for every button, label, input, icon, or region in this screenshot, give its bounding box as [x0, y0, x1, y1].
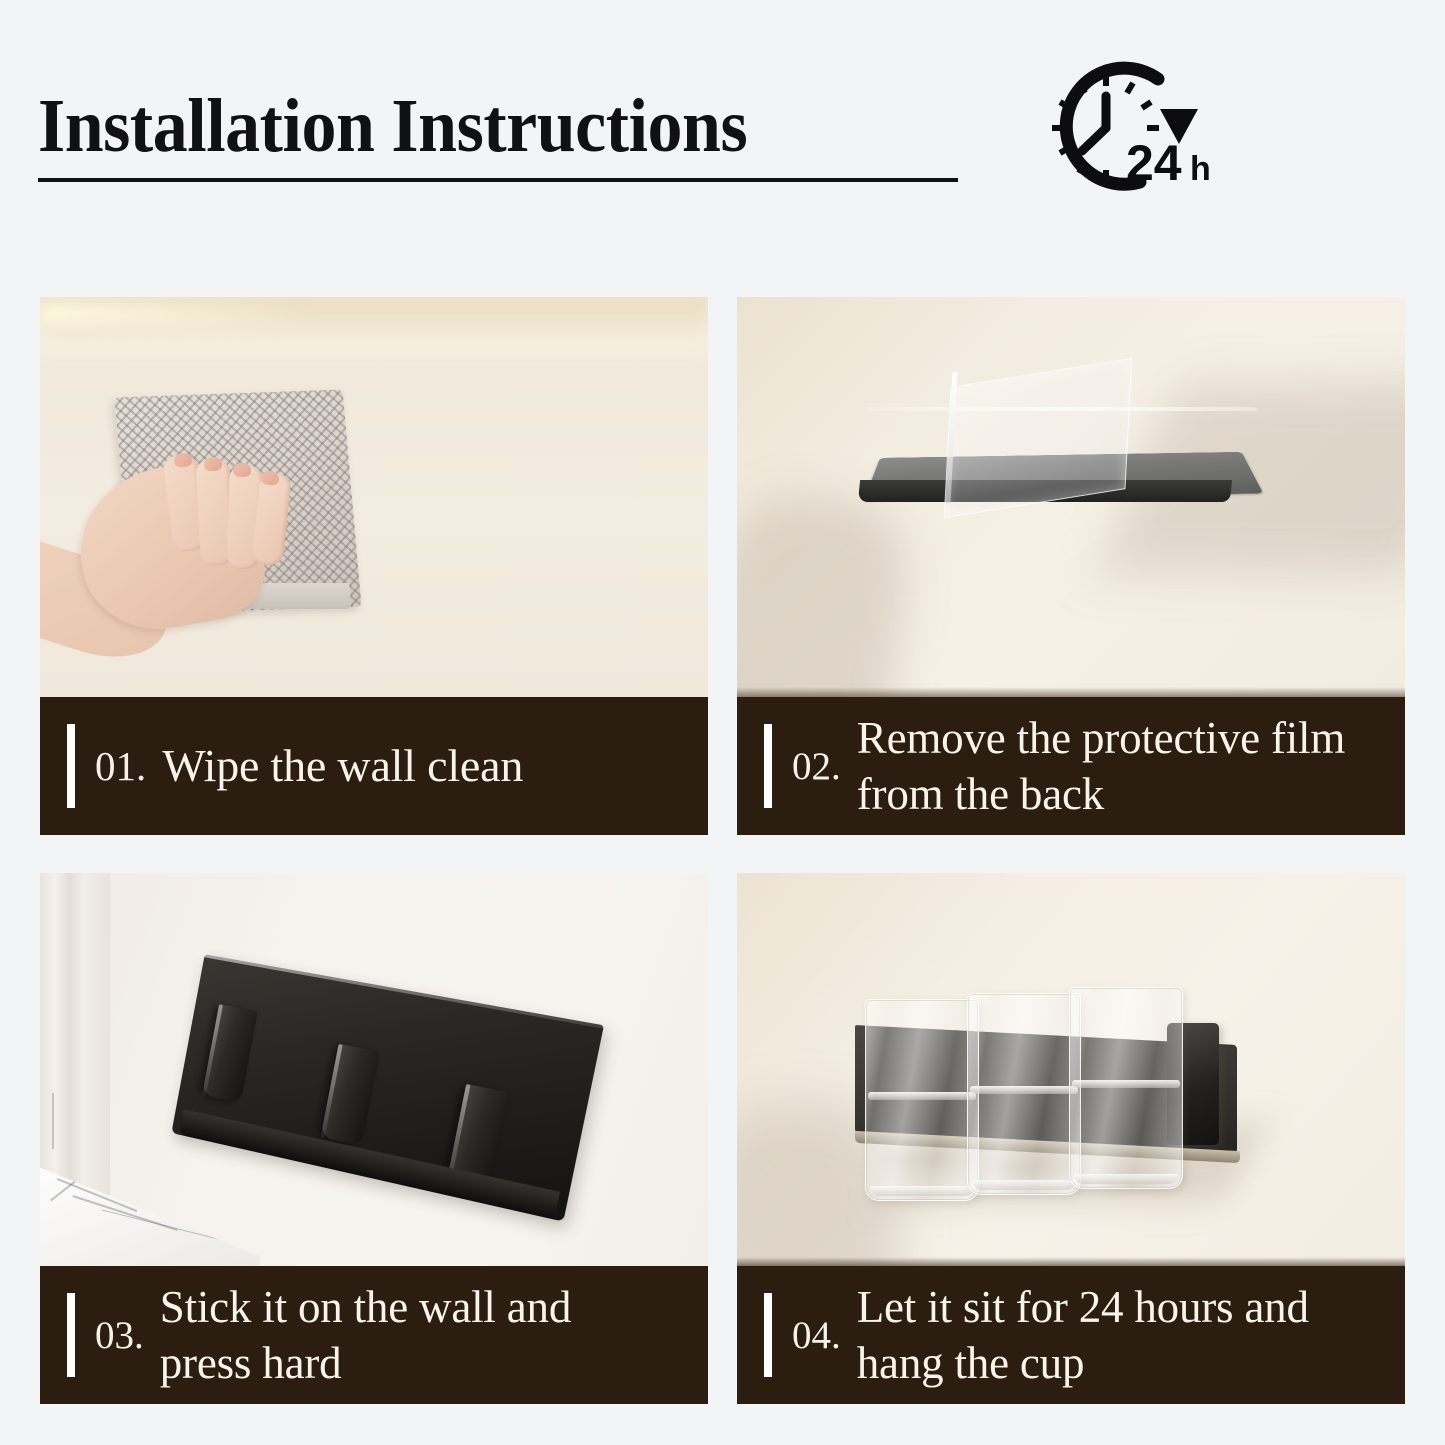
tab-highlight [321, 1044, 343, 1138]
step-caption-02: 02. Remove the protective film from the … [737, 697, 1405, 835]
caption-accent-bar [67, 1293, 75, 1377]
step-text-04: Let it sit for 24 hours and hang the cup [857, 1279, 1309, 1391]
step-text-02-line1: Remove the protective film [857, 710, 1345, 766]
cup-holder-tab [202, 1004, 258, 1103]
step-photo-03 [40, 873, 708, 1266]
step-caption-04: 04. Let it sit for 24 hours and hang the… [737, 1266, 1405, 1404]
step-text-04-line1: Let it sit for 24 hours and [857, 1279, 1309, 1335]
step-card-03: 03. Stick it on the wall and press hard [40, 873, 708, 1404]
step-card-04: 04. Let it sit for 24 hours and hang the… [737, 873, 1405, 1404]
step-text-03: Stick it on the wall and press hard [160, 1279, 571, 1391]
page-title: Installation Instructions [38, 88, 747, 164]
clock-hours-text: 24 [1126, 135, 1182, 191]
ceiling-light-glow [40, 303, 321, 325]
step-photo-02 [737, 297, 1405, 697]
page-header: Installation Instructions [0, 0, 1445, 265]
cup-rim [970, 1086, 1078, 1094]
title-underline-rule [38, 178, 958, 182]
caption-accent-bar [764, 1293, 772, 1377]
cup-base [972, 1180, 1076, 1190]
step-number-01: 01. [95, 746, 146, 787]
cup-holder-tab [321, 1044, 380, 1146]
step-number-03: 03. [95, 1316, 144, 1355]
caption-accent-bar [764, 724, 772, 808]
step-text-03-line1: Stick it on the wall and [160, 1279, 571, 1335]
tab-highlight [202, 1004, 223, 1096]
fingernail [233, 463, 251, 478]
step-caption-01: 01. Wipe the wall clean [40, 697, 708, 835]
cup-base [1074, 1174, 1178, 1184]
fingernail [204, 457, 223, 472]
door-frame-seam [52, 1093, 54, 1149]
clock-hour-unit-text: h [1190, 150, 1211, 188]
steps-grid: 01. Wipe the wall clean 02. Remove the p… [40, 297, 1405, 1404]
step-text-03-line2: press hard [160, 1335, 571, 1391]
tab-highlight [447, 1084, 471, 1181]
cup-base [870, 1186, 974, 1196]
glass-cup [1069, 987, 1183, 1189]
cup-rim [868, 1092, 976, 1100]
step-caption-03: 03. Stick it on the wall and press hard [40, 1266, 708, 1404]
step-card-01: 01. Wipe the wall clean [40, 297, 708, 835]
glass-cup [865, 999, 979, 1201]
photo-bottom-vignette [737, 687, 1405, 697]
step-text-02: Remove the protective film from the back [857, 710, 1345, 822]
step-number-04: 04. [792, 1316, 841, 1355]
step-card-02: 02. Remove the protective film from the … [737, 297, 1405, 835]
glass-cup [967, 993, 1081, 1195]
step-number-02: 02. [792, 747, 841, 786]
step-photo-01 [40, 297, 708, 697]
photo-bottom-vignette [737, 1257, 1405, 1266]
caption-accent-bar [67, 724, 75, 808]
step-text-01: Wipe the wall clean [162, 738, 523, 794]
step-text-02-line2: from the back [857, 766, 1345, 822]
clock-24h-icon: 24 h [1030, 52, 1220, 212]
step-photo-04 [737, 873, 1405, 1266]
step-text-04-line2: hang the cup [857, 1335, 1309, 1391]
cup-rim [1072, 1080, 1180, 1088]
